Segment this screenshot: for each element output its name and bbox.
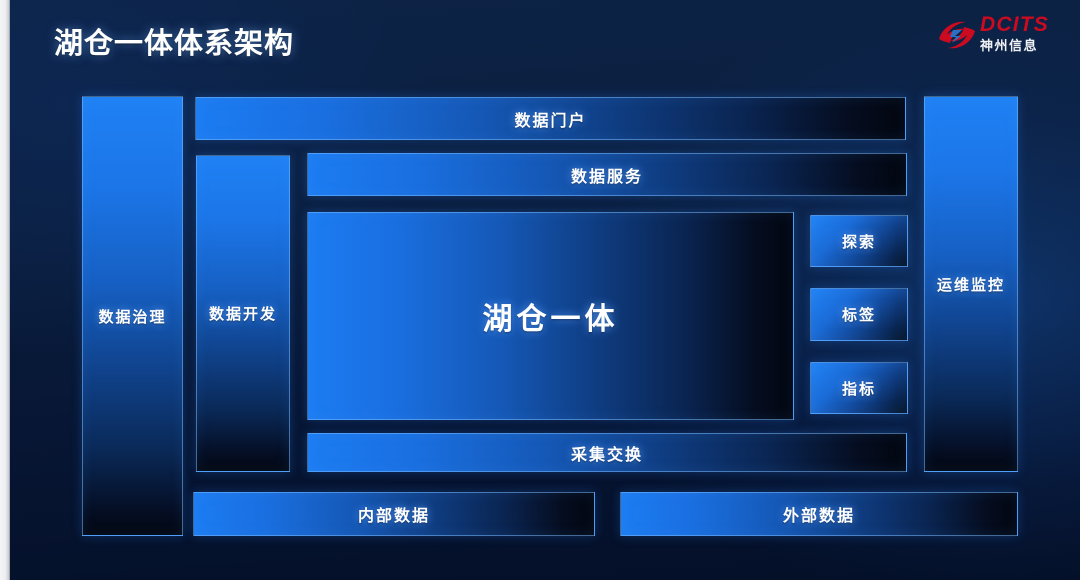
dcits-swirl-icon [936, 17, 978, 53]
bar-external-data-label: 外部数据 [783, 502, 855, 526]
core-lakehouse-block[interactable]: 湖仓一体 [307, 212, 794, 420]
bar-data-portal-label: 数据门户 [514, 107, 586, 131]
column-data-development-label: 数据开发 [209, 303, 277, 324]
chip-explore[interactable]: 探索 [810, 215, 908, 267]
chip-tags[interactable]: 标签 [810, 288, 908, 341]
column-data-governance[interactable]: 数据治理 [82, 96, 183, 536]
chip-metrics[interactable]: 指标 [810, 362, 908, 414]
logo-text: DCITS 神州信息 [980, 14, 1058, 54]
core-lakehouse-label: 湖仓一体 [483, 294, 619, 338]
column-data-development[interactable]: 数据开发 [196, 155, 290, 472]
bar-data-service[interactable]: 数据服务 [307, 153, 907, 196]
bar-external-data[interactable]: 外部数据 [620, 492, 1018, 536]
page-title: 湖仓一体体系架构 [54, 20, 294, 62]
column-ops-monitoring-label: 运维监控 [937, 274, 1005, 295]
bar-internal-data[interactable]: 内部数据 [193, 492, 595, 536]
column-ops-monitoring[interactable]: 运维监控 [924, 96, 1018, 472]
logo-wordmark: DCITS [980, 14, 1058, 36]
logo-chinese-name: 神州信息 [980, 38, 1058, 54]
bar-collection-exchange[interactable]: 采集交换 [307, 433, 907, 472]
column-data-governance-label: 数据治理 [98, 306, 166, 327]
chip-tags-label: 标签 [842, 304, 876, 325]
bar-data-service-label: 数据服务 [571, 163, 643, 187]
chip-metrics-label: 指标 [842, 378, 876, 399]
bar-collection-exchange-label: 采集交换 [571, 441, 643, 465]
chip-explore-label: 探索 [842, 231, 876, 252]
bar-internal-data-label: 内部数据 [358, 502, 430, 526]
left-edge-strip [0, 0, 10, 580]
bar-data-portal[interactable]: 数据门户 [195, 97, 906, 140]
architecture-slide: 湖仓一体体系架构 DCITS 神州信息 数据治理 数据开发 数据门户 数据服务 … [0, 0, 1080, 580]
brand-logo: DCITS 神州信息 [936, 12, 1058, 60]
